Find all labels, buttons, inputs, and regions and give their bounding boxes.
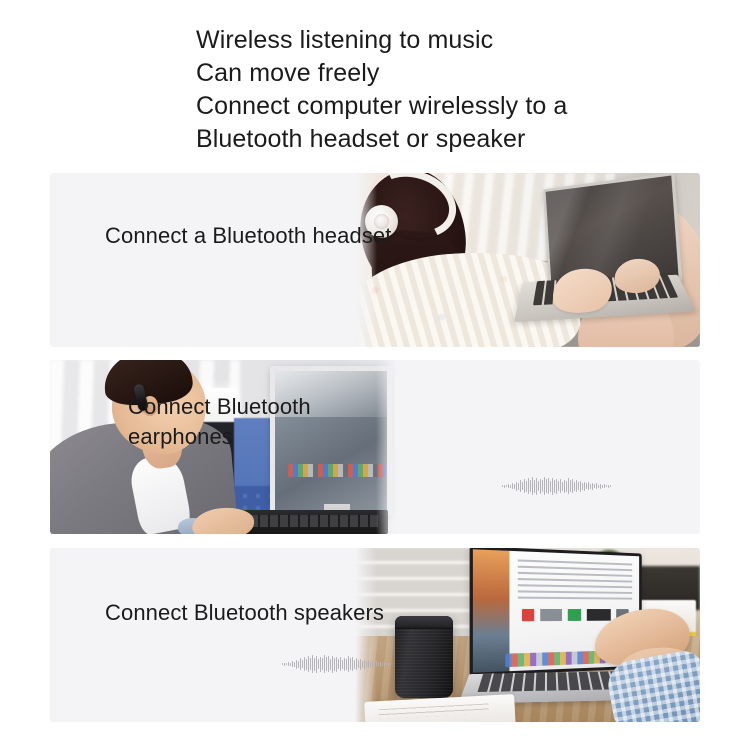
headline-line-4: Bluetooth headset or speaker <box>196 123 716 156</box>
feature-panel-speakers: Connect Bluetooth speakers <box>50 548 700 722</box>
headline-line-2: Can move freely <box>196 57 716 90</box>
panel-caption-headset: Connect a Bluetooth headset <box>105 221 391 251</box>
panel-caption-speakers: Connect Bluetooth speakers <box>105 598 384 628</box>
panel-caption-earphones-line-1: Connect Bluetooth <box>128 392 311 422</box>
headline-block: Wireless listening to music Can move fre… <box>196 24 716 156</box>
product-feature-page: Wireless listening to music Can move fre… <box>0 0 750 750</box>
feature-panel-headset: Connect a Bluetooth headset <box>50 173 700 347</box>
headline-line-1: Wireless listening to music <box>196 24 716 57</box>
panel-caption-earphones-line-2: earphones <box>128 422 311 452</box>
feature-panel-earphones: Connect Bluetooth earphones <box>50 360 700 534</box>
headline-line-3: Connect computer wirelessly to a <box>196 90 716 123</box>
photo-speaker-desk <box>355 548 700 722</box>
photo-headset-laptop <box>355 173 700 347</box>
panel-caption-earphones: Connect Bluetooth earphones <box>128 392 311 452</box>
audio-waveform-icon <box>502 475 611 497</box>
audio-waveform-icon <box>282 653 391 675</box>
